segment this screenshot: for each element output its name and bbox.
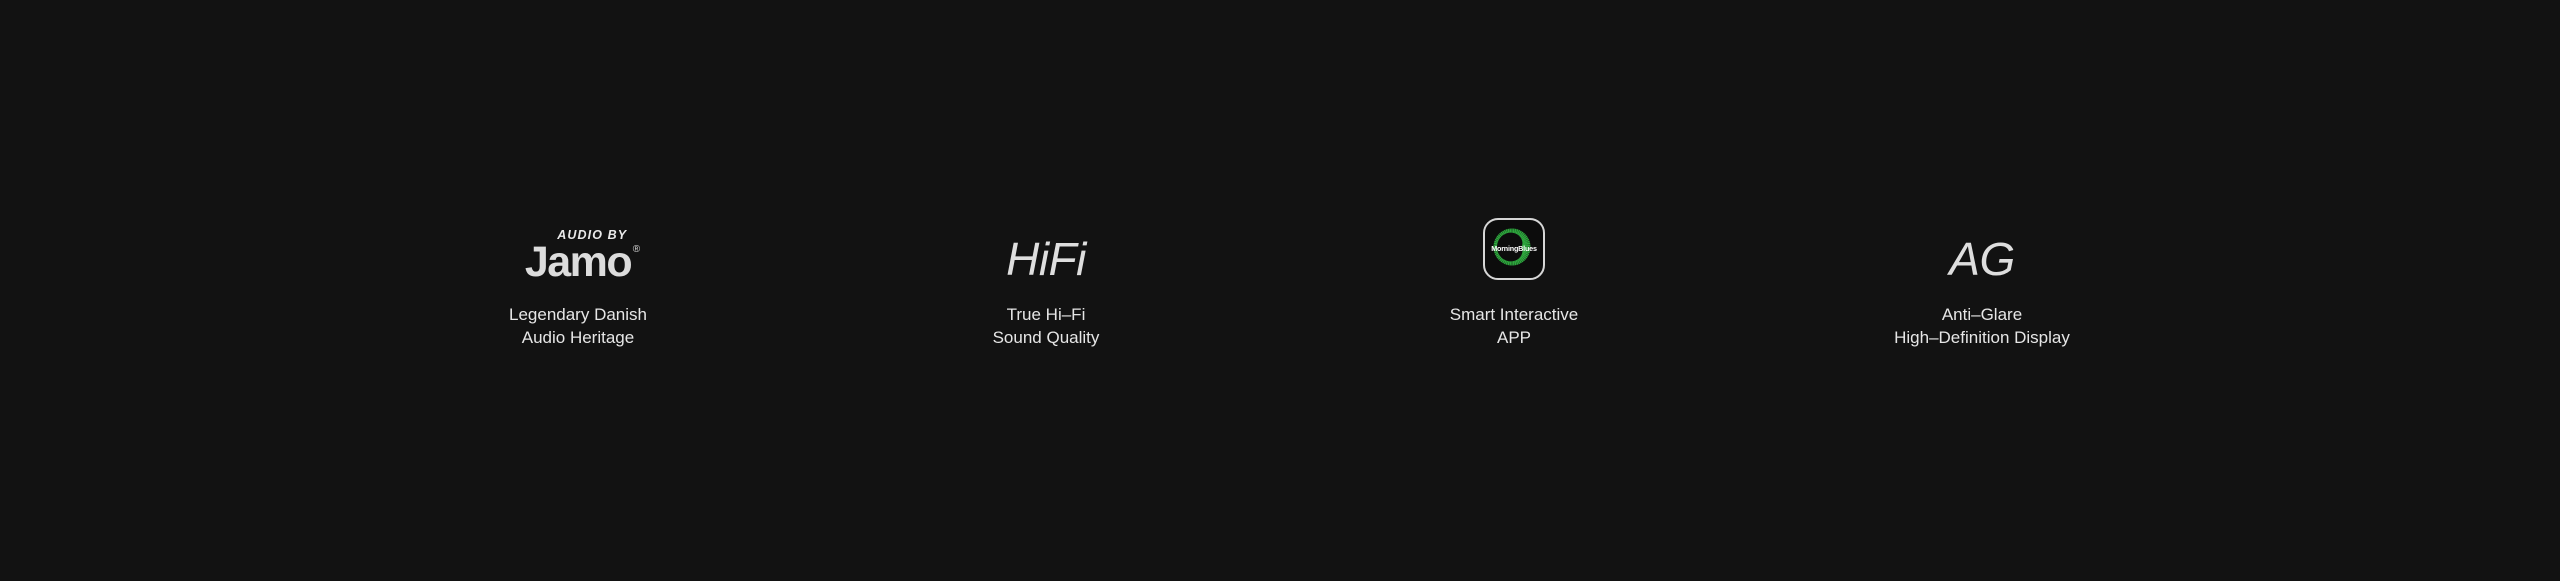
feature-item-smart-app: MorningBlues Smart Interactive APP (1364, 208, 1664, 350)
feature-list: AUDIO BY Jamo® Legendary Danish Audio He… (428, 208, 2132, 350)
feature-caption-line-2: Sound Quality (993, 327, 1100, 350)
jamo-wordmark: Jamo® (525, 244, 631, 282)
feature-caption-line-2: Audio Heritage (509, 327, 647, 350)
feature-caption-line-2: High–Definition Display (1894, 327, 2070, 350)
feature-caption-line-1: Anti–Glare (1894, 304, 2070, 327)
hifi-wordmark: HiFi (1006, 236, 1086, 282)
feature-highlight-strip: AUDIO BY Jamo® Legendary Danish Audio He… (0, 0, 2560, 581)
hifi-logo-mark: HiFi (1006, 208, 1086, 282)
registered-trademark-icon: ® (633, 246, 640, 255)
feature-caption-line-1: Legendary Danish (509, 304, 647, 327)
feature-caption-line-1: True Hi–Fi (993, 304, 1100, 327)
jamo-lockup: AUDIO BY Jamo® (525, 229, 631, 281)
app-icon-label: MorningBlues (1491, 244, 1537, 253)
ag-logo-mark: AG (1949, 208, 2014, 282)
feature-caption: Smart Interactive APP (1450, 304, 1579, 350)
morningblues-app-icon[interactable]: MorningBlues (1483, 218, 1545, 280)
jamo-wordmark-text: Jamo (525, 238, 631, 286)
app-icon-mark: MorningBlues (1483, 208, 1545, 282)
feature-caption: Legendary Danish Audio Heritage (509, 304, 647, 350)
feature-caption-line-1: Smart Interactive (1450, 304, 1579, 327)
feature-item-hifi: HiFi True Hi–Fi Sound Quality (896, 208, 1196, 350)
feature-item-jamo-audio: AUDIO BY Jamo® Legendary Danish Audio He… (428, 208, 728, 350)
feature-caption: True Hi–Fi Sound Quality (993, 304, 1100, 350)
ag-wordmark: AG (1949, 236, 2014, 282)
feature-caption: Anti–Glare High–Definition Display (1894, 304, 2070, 350)
feature-item-anti-glare: AG Anti–Glare High–Definition Display (1832, 208, 2132, 350)
jamo-logo-mark: AUDIO BY Jamo® (525, 208, 631, 282)
feature-caption-line-2: APP (1450, 327, 1579, 350)
